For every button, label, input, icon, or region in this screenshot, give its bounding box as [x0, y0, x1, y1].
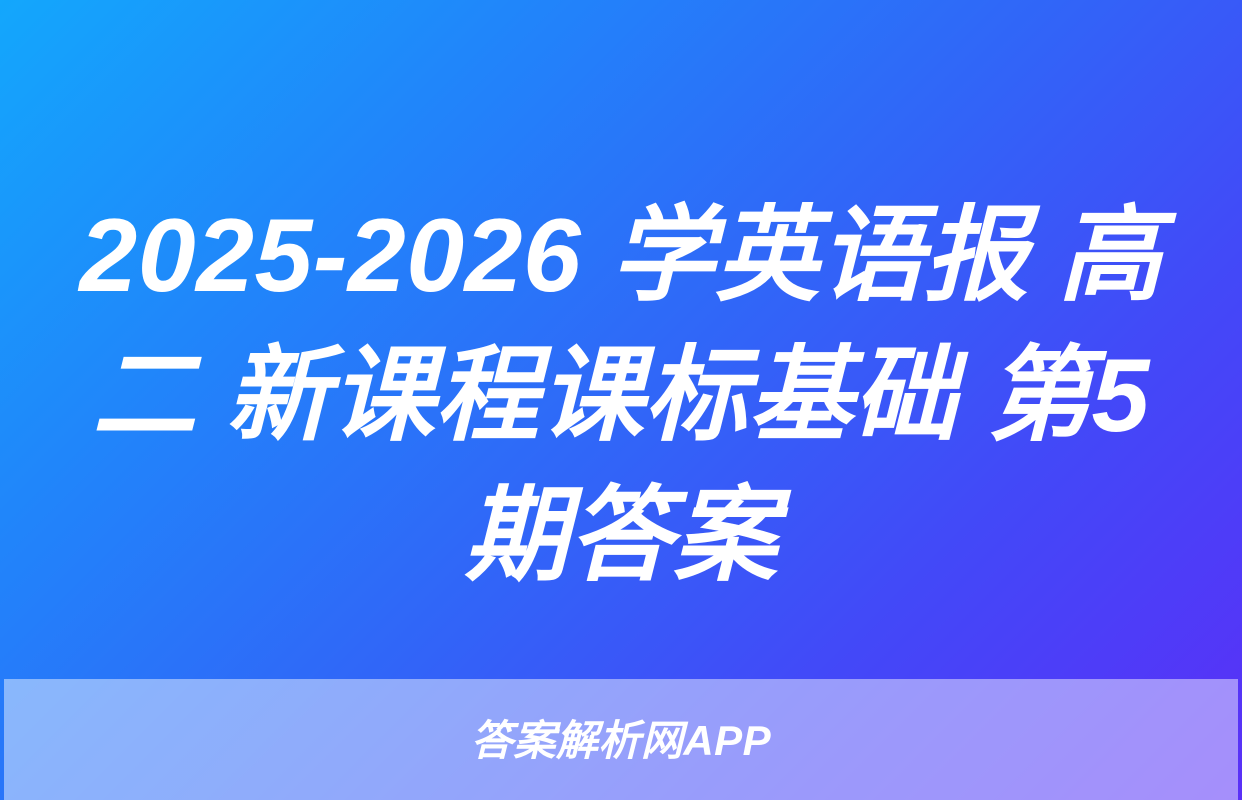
title-line-3: 期答案 — [30, 466, 1212, 606]
footer-brand-band: 答案解析网APP — [4, 679, 1238, 800]
brand-watermark-label: 答案解析网APP — [471, 720, 771, 762]
answer-cover-poster: 2025-2026 学英语报 高 二 新课程课标基础 第5 期答案 答案解析网A… — [0, 0, 1242, 800]
title-line-1: 2025-2026 学英语报 高 — [30, 186, 1212, 326]
title-line-2: 二 新课程课标基础 第5 — [30, 326, 1212, 466]
page-title: 2025-2026 学英语报 高 二 新课程课标基础 第5 期答案 — [0, 186, 1242, 606]
